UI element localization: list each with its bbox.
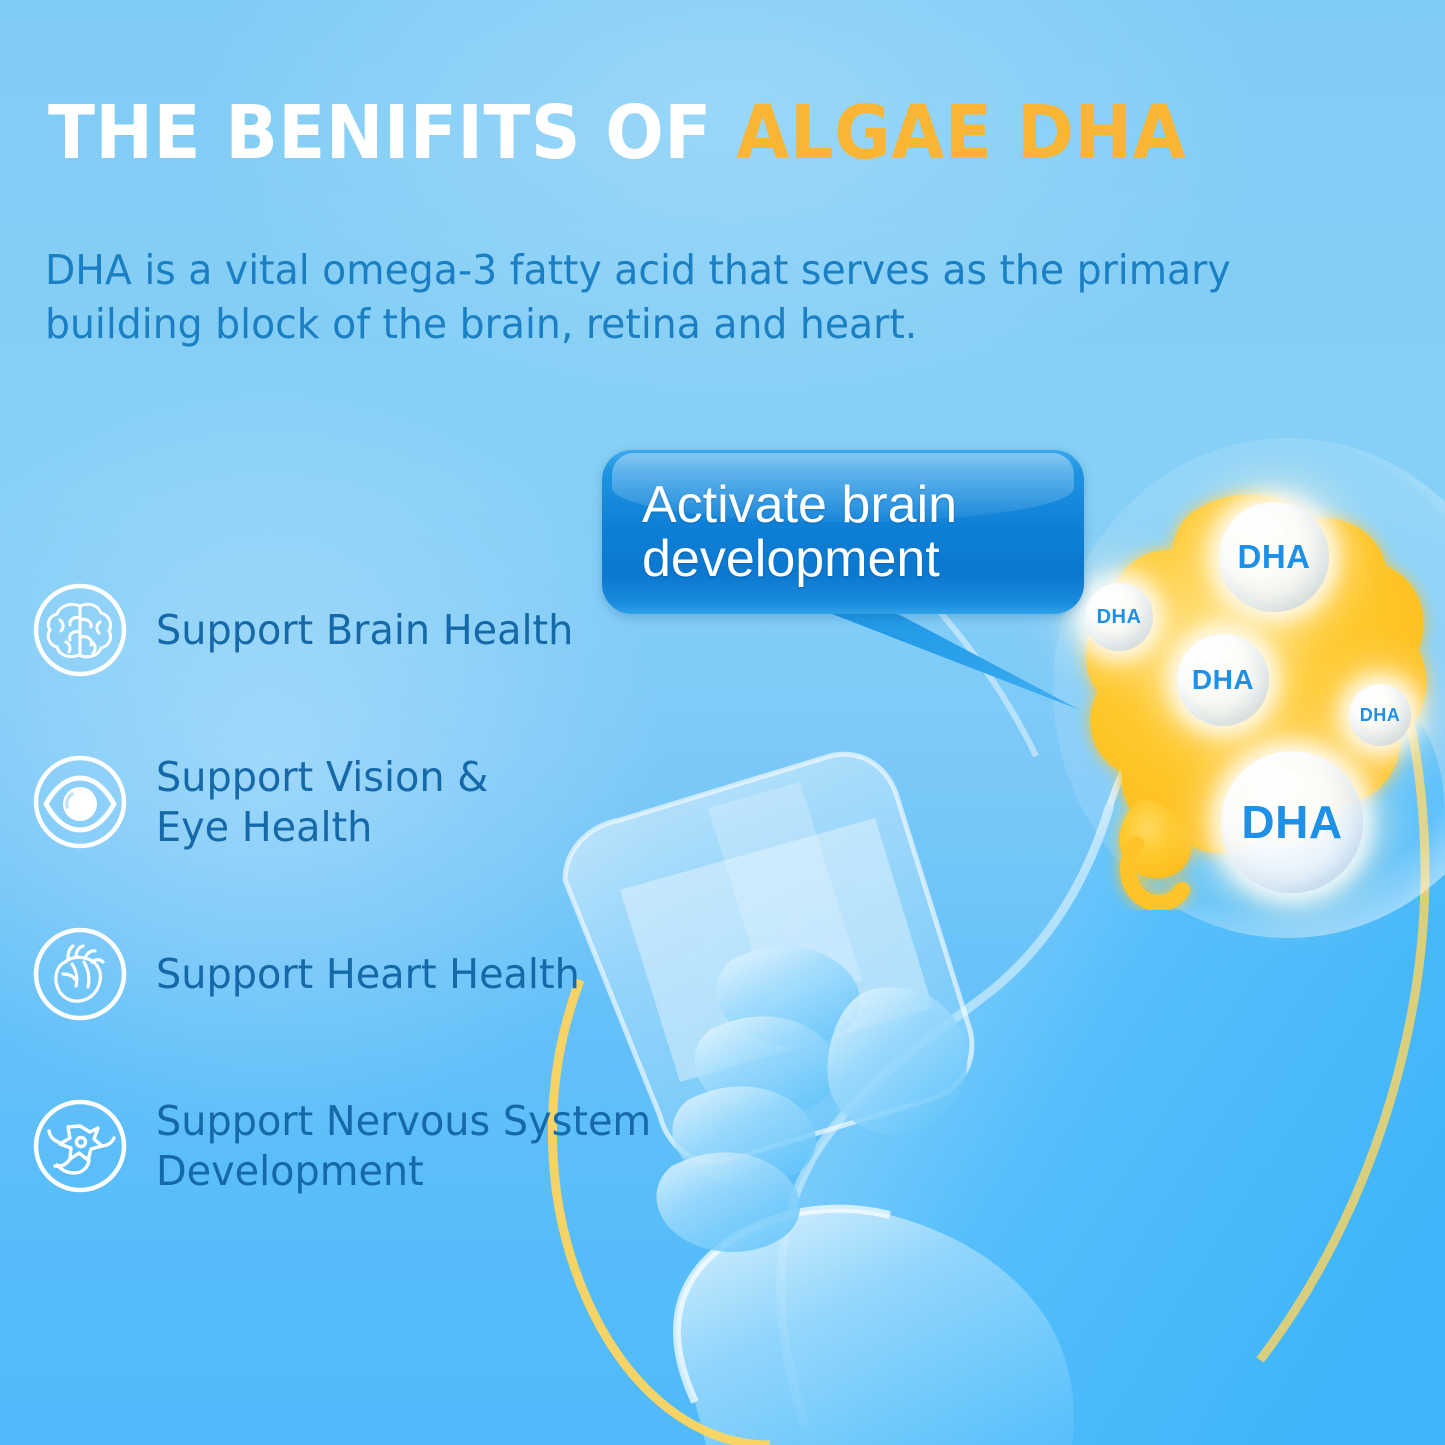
infographic-poster: THE BENIFITS OF ALGAE DHA DHA is a vital…	[0, 0, 1445, 1445]
dha-bubble-label: DHA	[1192, 664, 1254, 696]
benefit-item-brain: Support Brain Health	[30, 575, 690, 685]
benefit-item-vision: Support Vision & Eye Health	[30, 747, 690, 857]
dha-bubble-label: DHA	[1097, 606, 1142, 629]
callout-text: Activate brain development	[602, 450, 1084, 614]
dha-bubble-label: DHA	[1238, 538, 1311, 576]
benefit-item-heart: Support Heart Health	[30, 919, 690, 1029]
page-title: THE BENIFITS OF ALGAE DHA	[48, 96, 1186, 170]
benefit-label: Support Heart Health	[156, 949, 580, 999]
benefit-item-nervous-system: Support Nervous System Development	[30, 1091, 690, 1201]
dha-bubble: DHA	[1219, 502, 1329, 612]
dha-bubble: DHA	[1085, 583, 1153, 651]
dha-bubble: DHA	[1349, 684, 1411, 746]
benefit-label: Support Vision & Eye Health	[156, 752, 488, 852]
callout-bubble: Activate brain development	[602, 450, 1084, 614]
title-white-part: THE BENIFITS OF	[48, 90, 736, 176]
neuron-icon	[30, 1096, 130, 1196]
dha-bubble-label: DHA	[1241, 795, 1342, 849]
title-amber-part: ALGAE DHA	[736, 90, 1186, 176]
subtitle-text: DHA is a vital omega-3 fatty acid that s…	[45, 243, 1322, 351]
eye-icon	[30, 752, 130, 852]
dha-bubble: DHA	[1177, 634, 1269, 726]
dha-bubble-label: DHA	[1360, 705, 1401, 726]
heart-icon	[30, 924, 130, 1024]
benefit-label: Support Nervous System Development	[156, 1096, 651, 1196]
benefit-list: Support Brain Health Support Vision & Ey…	[30, 575, 690, 1201]
dha-bubble: DHA	[1221, 751, 1363, 893]
brain-icon	[30, 580, 130, 680]
benefit-label: Support Brain Health	[156, 605, 573, 655]
background-glow-top	[180, 0, 1280, 420]
